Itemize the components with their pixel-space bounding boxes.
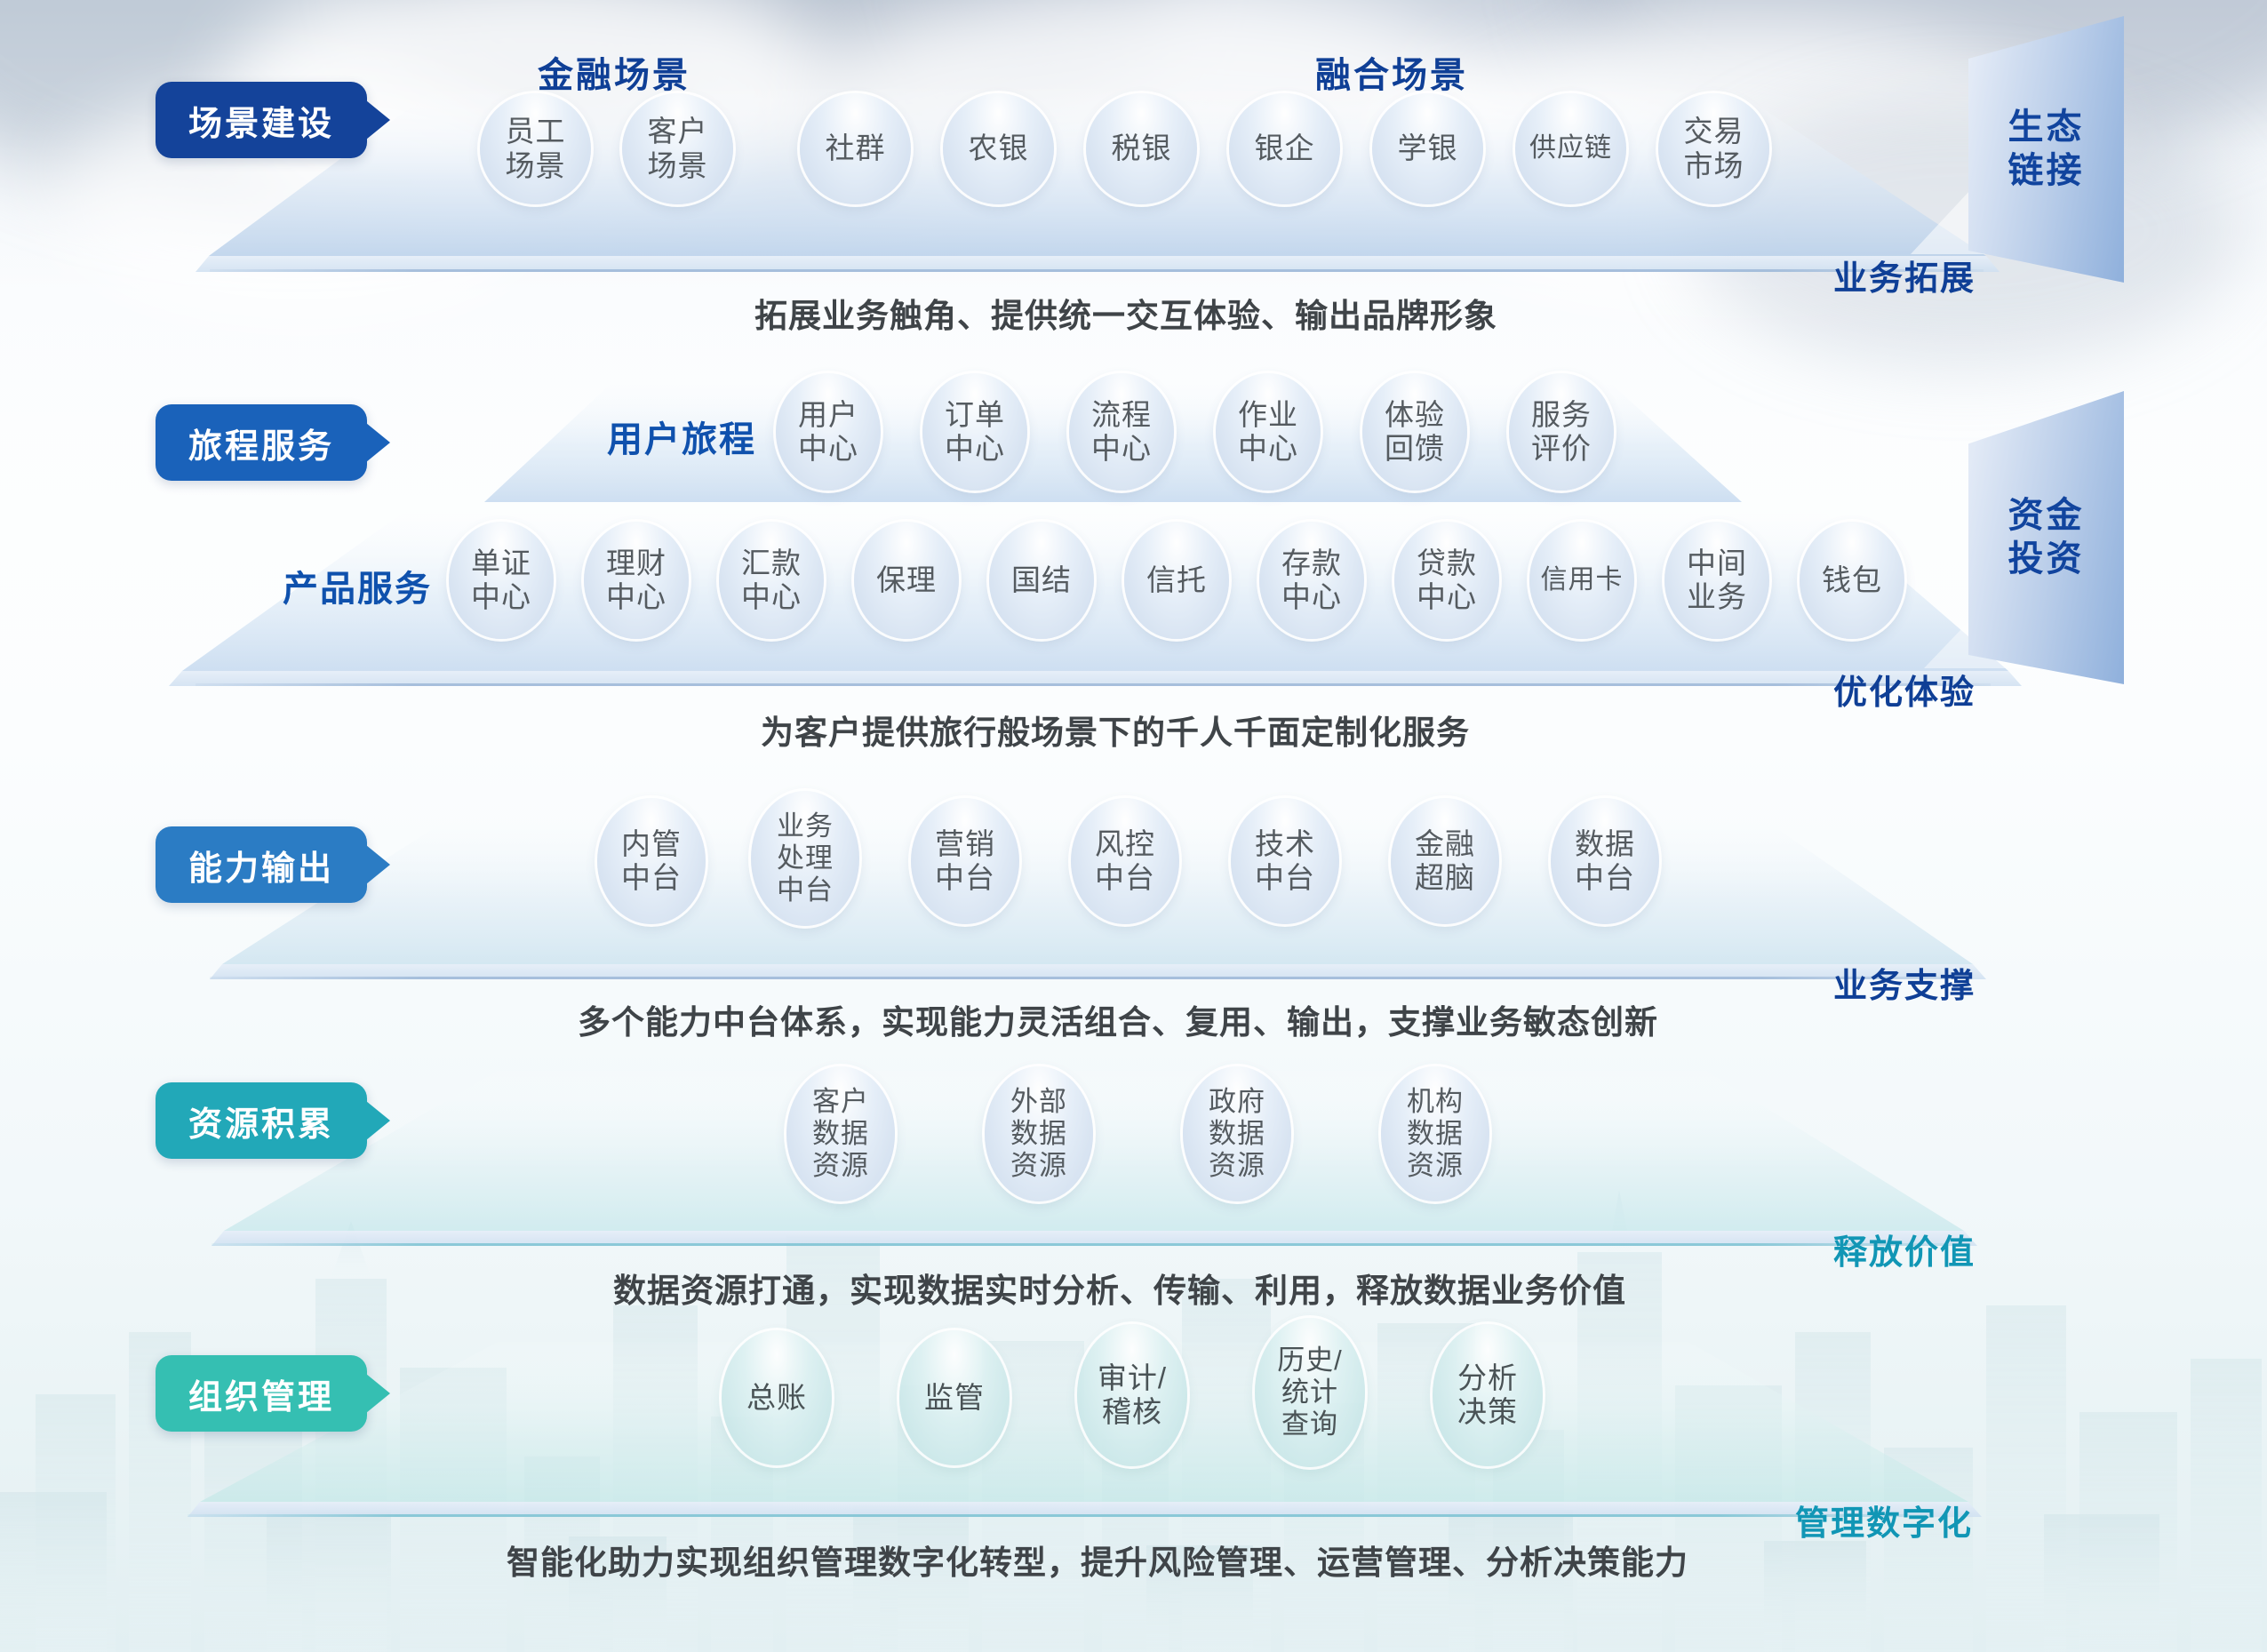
bubble-general-ledger[interactable]: 总账 xyxy=(722,1330,832,1465)
outcome-release-value: 释放价值 xyxy=(1833,1225,1976,1273)
bubble-line: 中心 xyxy=(606,580,667,614)
bubble-line: 超脑 xyxy=(1415,861,1475,895)
bubble-line: 业务 xyxy=(777,810,834,842)
bubble-line: 订单 xyxy=(945,398,1005,432)
bubble-financial-super-brain[interactable]: 金融 超脑 xyxy=(1391,798,1499,924)
bubble-line: 学银 xyxy=(1398,132,1458,165)
bubble-line: 资源 xyxy=(1010,1150,1067,1182)
bubble-deposit-center[interactable]: 存款 中心 xyxy=(1259,522,1364,639)
bubble-line: 国结 xyxy=(1011,563,1072,597)
bubble-line: 汇款 xyxy=(741,547,802,580)
bubble-factoring[interactable]: 保理 xyxy=(854,522,959,639)
bubble-operation-center[interactable]: 作业 中心 xyxy=(1216,373,1321,491)
bubble-line: 社群 xyxy=(826,132,886,165)
bubble-line: 评价 xyxy=(1531,432,1592,466)
bubble-line: 理财 xyxy=(606,547,667,580)
bubble-line: 政府 xyxy=(1209,1086,1265,1118)
ribbon-line: 资金 xyxy=(2008,494,2085,538)
bubble-trust[interactable]: 信托 xyxy=(1124,522,1229,639)
bubble-line: 中台 xyxy=(1255,861,1315,895)
bubble-line: 中心 xyxy=(1238,432,1298,466)
architecture-diagram: 生态 链接 资金 投资 场景建设 金融场景 融合场景 员工 场景 客户 场景 社… xyxy=(0,0,2267,1652)
stage-tag-scene-construction[interactable]: 场景建设 xyxy=(156,82,367,158)
bubble-line: 信用卡 xyxy=(1541,565,1624,596)
stage-tag-label: 能力输出 xyxy=(188,841,334,890)
bubble-intermediary-business[interactable]: 中间 业务 xyxy=(1664,522,1769,639)
bubble-service-evaluation[interactable]: 服务 评价 xyxy=(1509,373,1614,491)
bubble-line: 中台 xyxy=(1575,861,1635,895)
bubble-line: 信托 xyxy=(1146,563,1207,597)
stage-tag-label: 组织管理 xyxy=(188,1369,334,1418)
group-title-fusion-scenes: 融合场景 xyxy=(1315,46,1468,98)
outcome-business-support: 业务支撑 xyxy=(1833,958,1976,1007)
bubble-line: 决策 xyxy=(1457,1395,1518,1429)
bubble-wealth-center[interactable]: 理财 中心 xyxy=(584,522,689,639)
bubble-line: 统计 xyxy=(1281,1377,1338,1409)
bubble-line: 机构 xyxy=(1407,1086,1464,1118)
bubble-line: 历史/ xyxy=(1277,1345,1343,1377)
bubble-line: 作业 xyxy=(1238,398,1298,432)
stage-tag-journey-service[interactable]: 旅程服务 xyxy=(156,404,367,481)
bubble-line: 保理 xyxy=(876,563,937,597)
bubble-line: 内管 xyxy=(621,827,682,861)
bubble-customer-scene[interactable]: 客户 场景 xyxy=(622,93,733,204)
bubble-line: 中心 xyxy=(471,580,531,614)
bubble-line: 外部 xyxy=(1010,1086,1067,1118)
bubble-external-data-resource[interactable]: 外部 数据 资源 xyxy=(985,1066,1093,1201)
bubble-line: 数据 xyxy=(1407,1118,1464,1150)
bubble-analysis-decision[interactable]: 分析 决策 xyxy=(1433,1324,1543,1466)
layer-caption-journey-service: 为客户提供旅行般场景下的千人千面定制化服务 xyxy=(761,706,1470,754)
outcome-management-digitalization: 管理数字化 xyxy=(1795,1496,1973,1544)
bubble-process-center[interactable]: 流程 中心 xyxy=(1069,373,1174,491)
bubble-line: 单证 xyxy=(471,547,531,580)
bubble-line: 交易 xyxy=(1684,115,1744,148)
cloud-decoration xyxy=(1688,98,2239,364)
bubble-line: 中心 xyxy=(798,432,858,466)
bubble-line: 员工 xyxy=(506,115,566,148)
bubble-line: 总账 xyxy=(746,1381,807,1415)
bubble-loan-center[interactable]: 贷款 中心 xyxy=(1394,522,1499,639)
bubble-user-center[interactable]: 用户 中心 xyxy=(776,373,881,491)
ribbon-line: 链接 xyxy=(2008,149,2085,193)
bubble-line: 用户 xyxy=(798,398,858,432)
bubble-line: 处理 xyxy=(777,842,834,874)
stage-tag-organization-management[interactable]: 组织管理 xyxy=(156,1355,367,1432)
layer-caption-organization-management: 智能化助力实现组织管理数字化转型，提升风险管理、运营管理、分析决策能力 xyxy=(507,1536,1688,1584)
bubble-line: 中心 xyxy=(1417,580,1477,614)
bubble-line: 营销 xyxy=(935,827,995,861)
layer-divider xyxy=(196,683,1991,686)
bubble-line: 流程 xyxy=(1091,398,1152,432)
bubble-line: 农银 xyxy=(969,132,1029,165)
layer-caption-capability-output: 多个能力中台体系，实现能力灵活组合、复用、输出，支撑业务敏态创新 xyxy=(578,995,1658,1043)
group-title-financial-scenes: 金融场景 xyxy=(538,46,690,98)
bubble-line: 数据 xyxy=(1209,1118,1265,1150)
bubble-line: 中心 xyxy=(1281,580,1342,614)
bubble-line: 数据 xyxy=(1010,1118,1067,1150)
layer-divider xyxy=(210,977,1971,979)
bubble-marketing-platform[interactable]: 营销 中台 xyxy=(911,798,1019,924)
bubble-line: 场景 xyxy=(506,149,566,183)
outcome-optimize-experience: 优化体验 xyxy=(1833,665,1976,714)
bubble-customer-data-resource[interactable]: 客户 数据 资源 xyxy=(786,1066,895,1201)
bubble-line: 数据 xyxy=(812,1118,869,1150)
bubble-line: 资源 xyxy=(812,1150,869,1182)
bubble-line: 回馈 xyxy=(1385,432,1445,466)
stage-tag-resource-accumulation[interactable]: 资源积累 xyxy=(156,1082,367,1159)
ribbon-ecosystem-link: 生态 链接 xyxy=(1968,16,2124,283)
layer-divider xyxy=(212,1243,1964,1246)
bubble-line: 贷款 xyxy=(1417,547,1477,580)
bubble-government-data-resource[interactable]: 政府 数据 资源 xyxy=(1183,1066,1291,1201)
bubble-wallet[interactable]: 钱包 xyxy=(1800,522,1904,639)
bubble-line: 中心 xyxy=(1091,432,1152,466)
bubble-line: 市场 xyxy=(1684,149,1744,183)
bubble-audit-inspection[interactable]: 审计/ 稽核 xyxy=(1077,1324,1187,1466)
bubble-credit-card[interactable]: 信用卡 xyxy=(1529,522,1634,639)
bubble-school-bank[interactable]: 学银 xyxy=(1372,93,1483,204)
bubble-line: 中心 xyxy=(945,432,1005,466)
bubble-institution-data-resource[interactable]: 机构 数据 资源 xyxy=(1381,1066,1489,1201)
bubble-remittance-center[interactable]: 汇款 中心 xyxy=(719,522,824,639)
bubble-line: 分析 xyxy=(1457,1361,1518,1395)
bubble-international-settlement[interactable]: 国结 xyxy=(989,522,1094,639)
bubble-technology-platform[interactable]: 技术 中台 xyxy=(1231,798,1339,924)
stage-tag-capability-output[interactable]: 能力输出 xyxy=(156,826,367,903)
bubble-line: 资源 xyxy=(1209,1150,1265,1182)
ribbon-capital-investment: 资金 投资 xyxy=(1968,391,2124,684)
layer-caption-resource-accumulation: 数据资源打通，实现数据实时分析、传输、利用，释放数据业务价值 xyxy=(613,1264,1626,1312)
bubble-line: 存款 xyxy=(1281,547,1342,580)
bubble-history-statistics-query[interactable]: 历史/ 统计 查询 xyxy=(1255,1318,1365,1467)
bubble-line: 数据 xyxy=(1575,827,1635,861)
bubble-experience-feedback[interactable]: 体验 回馈 xyxy=(1362,373,1467,491)
bubble-line: 场景 xyxy=(648,149,708,183)
bubble-employee-scene[interactable]: 员工 场景 xyxy=(480,93,591,204)
bubble-line: 中台 xyxy=(777,874,834,906)
layer-caption-scene-construction: 拓展业务触角、提供统一交互体验、输出品牌形象 xyxy=(754,289,1497,337)
bubble-line: 税银 xyxy=(1112,132,1172,165)
bubble-supply-chain[interactable]: 供应链 xyxy=(1515,93,1626,204)
bubble-line: 客户 xyxy=(812,1086,869,1118)
stage-tag-label: 旅程服务 xyxy=(188,419,334,467)
bubble-trading-market[interactable]: 交易 市场 xyxy=(1658,93,1769,204)
bubble-document-center[interactable]: 单证 中心 xyxy=(449,522,554,639)
bubble-tax-bank[interactable]: 税银 xyxy=(1086,93,1197,204)
bubble-line: 金融 xyxy=(1415,827,1475,861)
bubble-line: 钱包 xyxy=(1822,563,1882,597)
bubble-supervision[interactable]: 监管 xyxy=(899,1330,1010,1465)
bubble-line: 中心 xyxy=(741,580,802,614)
bubble-line: 客户 xyxy=(648,115,708,148)
bubble-line: 银企 xyxy=(1255,132,1315,165)
bubble-line: 资源 xyxy=(1407,1150,1464,1182)
ribbon-line: 投资 xyxy=(2008,538,2085,581)
bubble-line: 中间 xyxy=(1687,547,1747,580)
row-label-user-journey: 用户旅程 xyxy=(607,411,756,462)
bubble-bank-enterprise[interactable]: 银企 xyxy=(1229,93,1340,204)
bubble-line: 服务 xyxy=(1531,398,1592,432)
bubble-line: 风控 xyxy=(1095,827,1155,861)
bubble-order-center[interactable]: 订单 中心 xyxy=(922,373,1027,491)
bubble-line: 审计/ xyxy=(1098,1361,1167,1395)
bubble-agri-bank[interactable]: 农银 xyxy=(943,93,1054,204)
bubble-line: 中台 xyxy=(935,861,995,895)
bubble-line: 中台 xyxy=(621,861,682,895)
stage-tag-label: 资源积累 xyxy=(188,1097,334,1145)
bubble-line: 中台 xyxy=(1095,861,1155,895)
bubble-line: 查询 xyxy=(1281,1409,1338,1441)
outcome-business-expansion: 业务拓展 xyxy=(1833,251,1976,299)
bubble-community[interactable]: 社群 xyxy=(800,93,911,204)
layer-divider xyxy=(188,1514,1929,1517)
bubble-line: 稽核 xyxy=(1102,1395,1162,1429)
row-label-product-service: 产品服务 xyxy=(283,560,432,611)
ribbon-line: 生态 xyxy=(2008,106,2085,149)
stage-tag-label: 场景建设 xyxy=(188,96,334,145)
bubble-line: 业务 xyxy=(1687,580,1747,614)
bubble-data-platform[interactable]: 数据 中台 xyxy=(1551,798,1659,924)
bubble-line: 监管 xyxy=(924,1381,985,1415)
bubble-line: 供应链 xyxy=(1529,133,1612,164)
bubble-line: 体验 xyxy=(1385,398,1445,432)
bubble-risk-control-platform[interactable]: 风控 中台 xyxy=(1071,798,1179,924)
bubble-business-processing-platform[interactable]: 业务 处理 中台 xyxy=(751,791,859,926)
bubble-line: 技术 xyxy=(1255,827,1315,861)
layer-divider xyxy=(210,269,1984,272)
bubble-internal-mgmt-platform[interactable]: 内管 中台 xyxy=(597,798,706,924)
